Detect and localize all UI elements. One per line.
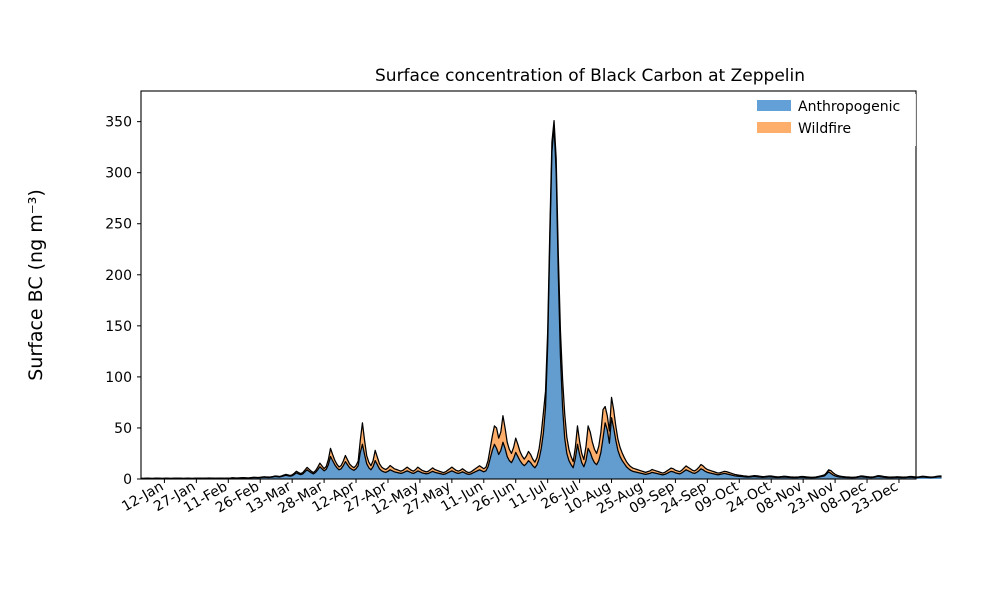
chart-legend[interactable]: AnthropogenicWildfire	[752, 94, 916, 146]
legend-label-wildfire: Wildfire	[798, 121, 851, 137]
chart-title: Surface concentration of Black Carbon at…	[375, 66, 805, 86]
plot-area-background	[141, 91, 916, 479]
y-tick-label: 250	[105, 217, 132, 233]
y-tick-label: 50	[114, 421, 132, 437]
legend-label-anthropogenic: Anthropogenic	[798, 99, 900, 115]
y-tick-label: 150	[105, 319, 132, 335]
chart-figure: Surface concentration of Black Carbon at…	[0, 0, 990, 595]
y-tick-label: 200	[105, 268, 132, 284]
y-axis-label: Surface BC (ng m⁻³)	[25, 189, 47, 381]
y-tick-label: 350	[105, 115, 132, 131]
y-tick-label: 300	[105, 166, 132, 182]
black-carbon-stacked-area-chart: Surface concentration of Black Carbon at…	[0, 0, 990, 595]
legend-swatch-anthropogenic[interactable]	[757, 100, 791, 111]
legend-swatch-wildfire[interactable]	[757, 122, 791, 133]
y-tick-label: 100	[105, 370, 132, 386]
y-tick-label: 0	[123, 472, 132, 488]
